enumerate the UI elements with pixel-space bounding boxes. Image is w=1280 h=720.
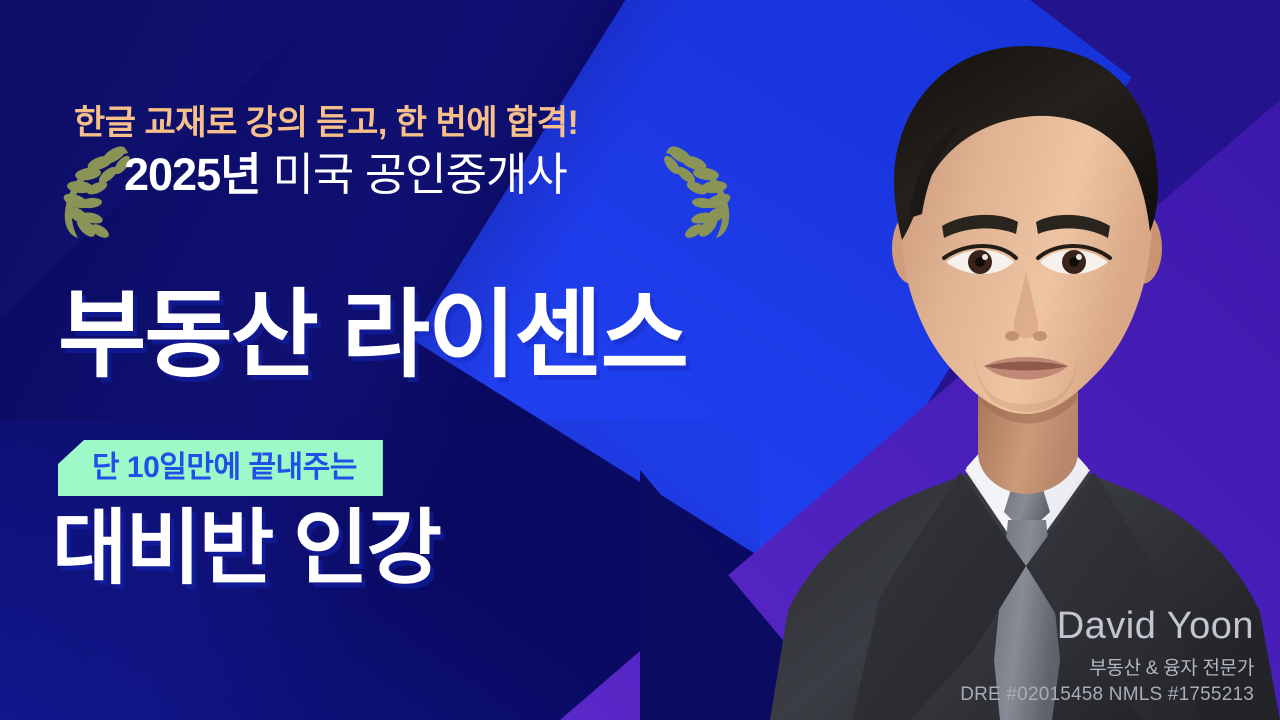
year-value: 2025년 — [124, 149, 261, 200]
instructor-name: David Yoon — [960, 606, 1254, 648]
year-title-row: 2025년미국 공인중개사 — [52, 146, 732, 238]
laurel-wreath-right-icon — [652, 143, 738, 239]
instructor-license-numbers: DRE #02015458 NMLS #1755213 — [960, 684, 1254, 706]
copy-column: 한글 교재로 강의 듣고, 한 번에 합격! — [0, 0, 790, 720]
main-headline: 부동산 라이센스 — [58, 288, 687, 384]
kicker-text: 한글 교재로 강의 듣고, 한 번에 합격! — [74, 95, 578, 144]
promo-banner: 한글 교재로 강의 듣고, 한 번에 합격! — [0, 0, 1280, 720]
exam-title-value: 미국 공인중개사 — [273, 149, 567, 200]
duration-badge: 단 10일만에 끝내주는 — [58, 440, 383, 496]
instructor-role: 부동산 & 융자 전문가 — [960, 653, 1254, 680]
year-title-text: 2025년미국 공인중개사 — [124, 152, 567, 197]
instructor-credentials: David Yoon 부동산 & 융자 전문가 DRE #02015458 NM… — [960, 606, 1254, 706]
duration-badge-label: 단 10일만에 끝내주는 — [92, 451, 357, 484]
secondary-headline: 대비반 인강 — [52, 508, 440, 590]
